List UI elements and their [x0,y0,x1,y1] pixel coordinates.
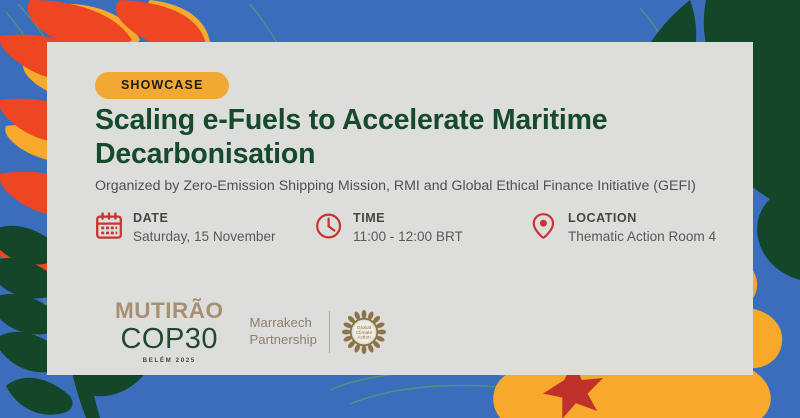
location-value: Thematic Action Room 4 [568,228,716,246]
event-info-row: DATE Saturday, 15 November TIME 11:00 - … [95,210,745,246]
marrakech-partnership-logo: Marrakech Partnership [250,309,387,355]
clock-icon [315,211,343,241]
calendar-icon [95,211,123,241]
logo-divider [329,311,330,353]
showcase-badge: SHOWCASE [95,72,229,99]
info-item-time: TIME 11:00 - 12:00 BRT [315,210,530,246]
marrakech-line-2: Partnership [250,332,317,349]
map-pin-icon [530,211,558,241]
seal-line-3: Action [357,334,371,340]
cop30-mutirao-text: MUTIRÃO [115,300,224,323]
time-value: 11:00 - 12:00 BRT [353,228,463,246]
date-value: Saturday, 15 November [133,228,276,246]
info-item-location: LOCATION Thematic Action Room 4 [530,210,716,246]
cop30-logo: MUTIRÃO COP30 BELÉM 2025 [115,300,224,364]
organizer-text: Organized by Zero-Emission Shipping Miss… [95,177,745,195]
content-card: SHOWCASE Scaling e-Fuels to Accelerate M… [47,42,753,375]
global-climate-action-seal: Global Climate Action [341,309,387,355]
time-label: TIME [353,211,463,227]
logo-strip: MUTIRÃO COP30 BELÉM 2025 Marrakech Partn… [115,300,387,364]
cop30-main-text: COP30 [115,325,224,354]
seal-line-1: Global [357,325,371,331]
date-label: DATE [133,211,276,227]
title-line-1: Scaling e-Fuels to Accelerate Maritime [95,104,715,138]
info-item-date: DATE Saturday, 15 November [95,210,315,246]
location-label: LOCATION [568,211,716,227]
seal-line-2: Climate [356,330,373,336]
cop30-belem-text: BELÉM 2025 [115,358,224,364]
title-line-2: Decarbonisation [95,138,715,172]
marrakech-partnership-text: Marrakech Partnership [250,315,329,348]
event-poster: SHOWCASE Scaling e-Fuels to Accelerate M… [0,0,800,418]
page-title: Scaling e-Fuels to Accelerate Maritime D… [95,104,715,172]
marrakech-line-1: Marrakech [250,315,317,332]
